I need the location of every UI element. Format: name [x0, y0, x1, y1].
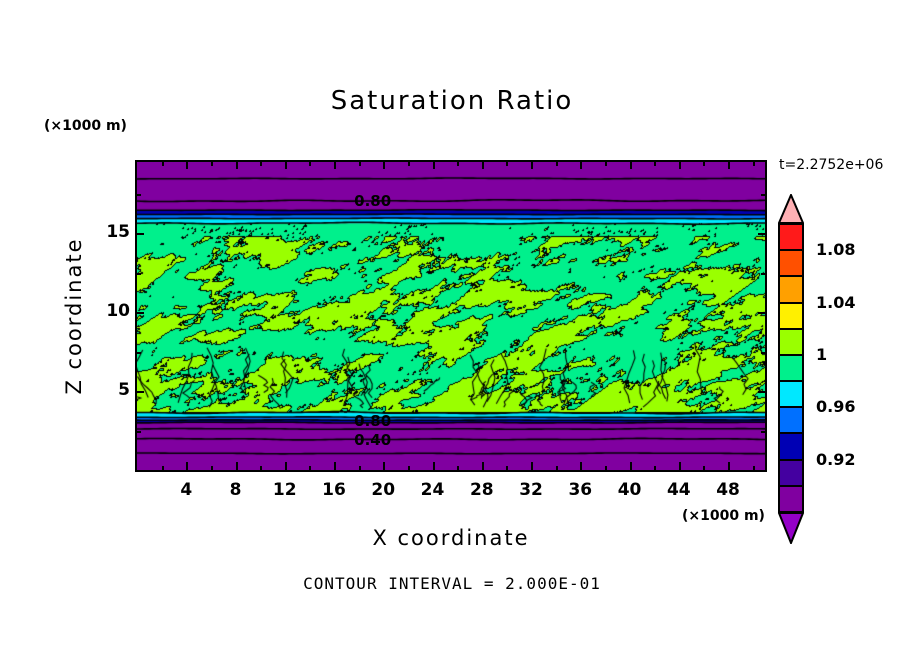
colorbar-band [778, 276, 804, 302]
colorbar-tick-label: 1.04 [816, 293, 855, 312]
colorbar-band [778, 329, 804, 355]
y-axis-unit-label: (×1000 m) [44, 118, 127, 134]
colorbar-band [778, 407, 804, 433]
x-tick-label: 36 [560, 480, 600, 500]
x-tick-label: 8 [216, 480, 256, 500]
colorbar-over-arrow [778, 194, 804, 224]
colorbar-tick-label: 1 [816, 345, 827, 364]
y-minor-tick [135, 352, 141, 354]
colorbar-band [778, 433, 804, 459]
colorbar-band [778, 355, 804, 381]
time-stamp-label: t=2.2752e+06 [779, 157, 883, 173]
y-tick-label: 10 [90, 301, 130, 321]
colorbar-tick-label: 0.92 [816, 450, 855, 469]
x-tick-label: 40 [610, 480, 650, 500]
y-axis-ticks: 51015 [90, 160, 770, 472]
y-minor-tick [761, 273, 767, 275]
y-tick [135, 391, 144, 393]
colorbar-tick-label: 1.08 [816, 240, 855, 259]
y-minor-tick [761, 352, 767, 354]
y-tick-label: 15 [90, 222, 130, 242]
x-tick-label: 24 [413, 480, 453, 500]
x-tick-label: 48 [708, 480, 748, 500]
y-minor-tick [761, 194, 767, 196]
y-tick-right [758, 391, 767, 393]
y-minor-tick [135, 431, 141, 433]
y-tick-label: 5 [90, 380, 130, 400]
x-tick-label: 28 [462, 480, 502, 500]
colorbar-tick-label: 0.96 [816, 397, 855, 416]
x-tick-label: 20 [363, 480, 403, 500]
y-tick [135, 233, 144, 235]
x-tick-label: 4 [166, 480, 206, 500]
chart-title: Saturation Ratio [0, 86, 904, 116]
y-tick [135, 312, 144, 314]
colorbar-band [778, 381, 804, 407]
x-axis-unit-label: (×1000 m) [682, 508, 765, 524]
colorbar[interactable]: 1.081.0410.960.92 [778, 224, 804, 512]
colorbar-under-arrow [778, 512, 804, 544]
y-axis-title: Z coordinate [62, 226, 86, 406]
colorbar-band [778, 303, 804, 329]
x-tick-label: 16 [314, 480, 354, 500]
colorbar-band [778, 486, 804, 512]
y-tick-right [758, 233, 767, 235]
y-minor-tick [135, 273, 141, 275]
y-minor-tick [761, 431, 767, 433]
colorbar-band [778, 224, 804, 250]
x-tick-label: 44 [659, 480, 699, 500]
contour-interval-note: CONTOUR INTERVAL = 2.000E-01 [0, 574, 904, 593]
y-minor-tick [135, 194, 141, 196]
y-tick-right [758, 312, 767, 314]
x-tick-label: 32 [511, 480, 551, 500]
x-axis-title: X coordinate [135, 526, 767, 550]
x-tick-label: 12 [265, 480, 305, 500]
colorbar-band [778, 460, 804, 486]
colorbar-band [778, 250, 804, 276]
